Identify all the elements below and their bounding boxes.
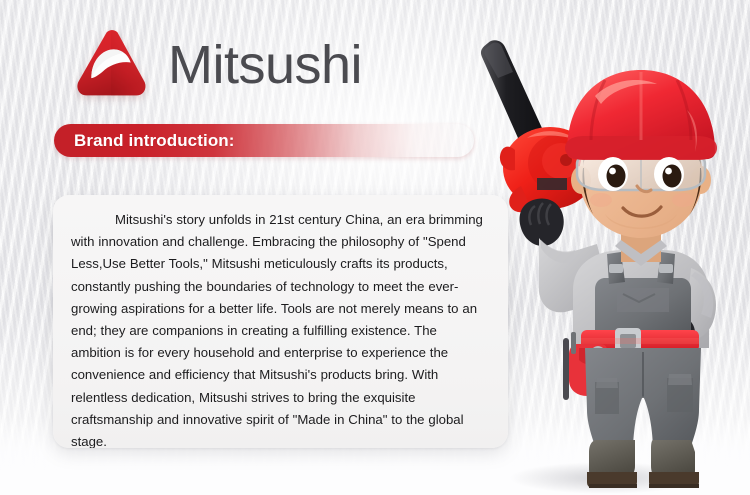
work-boot-left <box>587 440 637 488</box>
ear-right <box>691 166 711 194</box>
smile <box>623 207 661 216</box>
strap-buckle-right <box>659 264 673 273</box>
overall-strap-left <box>607 252 625 284</box>
cheek-right <box>672 193 694 207</box>
mascot-ground-shadow <box>510 462 700 494</box>
strap-buckle-left <box>609 264 623 273</box>
raised-arm-sleeve <box>539 238 611 312</box>
brand-introduction-card: Mitsushi's story unfolds in 21st century… <box>53 195 508 448</box>
black-glove-left <box>520 198 564 246</box>
sideburn-left <box>582 168 593 214</box>
face <box>579 114 703 238</box>
brand-introduction-banner: Mitsushi Brand introduction: Mitsushi's … <box>0 0 750 495</box>
cargo-pocket-right <box>667 378 693 412</box>
hair <box>583 112 701 168</box>
brand-introduction-banner-pill: Brand introduction: <box>54 124 474 157</box>
right-arm-sleeve <box>669 268 716 340</box>
neck <box>621 232 661 262</box>
cargo-pocket-left <box>595 382 619 414</box>
mitsushi-triangle-logo-icon <box>70 24 152 106</box>
helmet-highlight <box>595 80 657 104</box>
nose <box>637 186 651 192</box>
belt-buckle <box>615 328 641 354</box>
brand-logo-row: Mitsushi <box>70 24 362 106</box>
black-glove-right <box>658 315 695 350</box>
overall-strap-right <box>657 252 675 284</box>
bib-pocket <box>617 288 669 312</box>
safety-goggles <box>577 150 705 190</box>
brand-wordmark: Mitsushi <box>168 38 362 92</box>
cheek-left <box>590 193 612 207</box>
banner-label: Brand introduction: <box>54 131 235 151</box>
shirt-collar <box>615 240 667 266</box>
red-tool-belt <box>581 328 699 354</box>
ear-left <box>571 166 591 194</box>
overalls-bib <box>595 278 691 340</box>
work-shirt <box>573 250 709 348</box>
eyes <box>598 157 684 191</box>
work-boot-right <box>649 440 699 488</box>
pouch-tool-handle <box>563 338 569 400</box>
tool-pouch <box>563 332 607 400</box>
overalls-pants <box>585 348 701 452</box>
brand-introduction-text: Mitsushi's story unfolds in 21st century… <box>71 209 488 448</box>
red-hard-hat <box>565 70 717 160</box>
sideburn-right <box>689 168 701 216</box>
